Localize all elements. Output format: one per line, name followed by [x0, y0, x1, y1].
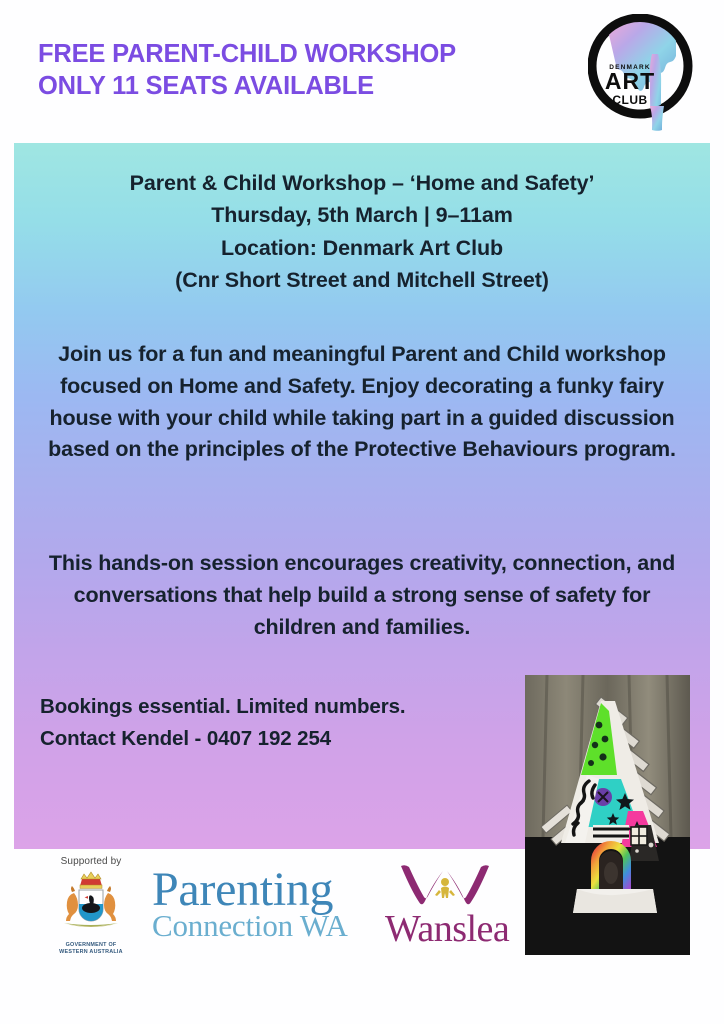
event-location: Location: Denmark Art Club [14, 232, 710, 264]
event-datetime: Thursday, 5th March | 9–11am [14, 199, 710, 231]
pcwa-word-connection-wa: Connection WA [152, 910, 352, 941]
wa-caption-line-1: GOVERNMENT OF [38, 942, 144, 949]
poster-footer: Supported by [0, 848, 724, 1024]
pcwa-word-parenting: Parenting [152, 866, 352, 914]
body-paragraph-2: This hands-on session encourages creativ… [14, 548, 710, 643]
wa-caption-line-2: WESTERN AUSTRALIA [38, 949, 144, 956]
booking-essential-text: Bookings essential. Limited numbers. [40, 691, 405, 723]
wanslea-w-mark-icon [395, 860, 495, 912]
wa-coat-of-arms-icon [52, 869, 130, 941]
poster: FREE PARENT-CHILD WORKSHOP ONLY 11 SEATS… [0, 0, 724, 1024]
wanslea-logo: Wanslea [385, 860, 505, 948]
poster-header: FREE PARENT-CHILD WORKSHOP ONLY 11 SEATS… [38, 38, 558, 103]
parenting-connection-wa-logo: Parenting Connection WA [152, 866, 352, 941]
wanslea-wordmark: Wanslea [385, 910, 505, 948]
event-details-block: Parent & Child Workshop – ‘Home and Safe… [14, 167, 710, 297]
event-address: (Cnr Short Street and Mitchell Street) [14, 264, 710, 296]
event-title: Parent & Child Workshop – ‘Home and Safe… [14, 167, 710, 199]
denmark-art-club-logo: DENMARK ART CLUB [588, 14, 700, 132]
logo-text-art: ART [605, 68, 655, 94]
wa-government-caption: GOVERNMENT OF WESTERN AUSTRALIA [38, 942, 144, 957]
wa-government-logo: Supported by [38, 856, 144, 957]
contact-text: Contact Kendel - 0407 192 254 [40, 723, 405, 755]
booking-block: Bookings essential. Limited numbers. Con… [40, 691, 405, 755]
header-line-2: ONLY 11 SEATS AVAILABLE [38, 70, 558, 102]
logo-text-club: CLUB [612, 93, 647, 107]
supported-by-label: Supported by [38, 856, 144, 867]
header-line-1: FREE PARENT-CHILD WORKSHOP [38, 38, 558, 70]
body-paragraph-1: Join us for a fun and meaningful Parent … [14, 339, 710, 466]
